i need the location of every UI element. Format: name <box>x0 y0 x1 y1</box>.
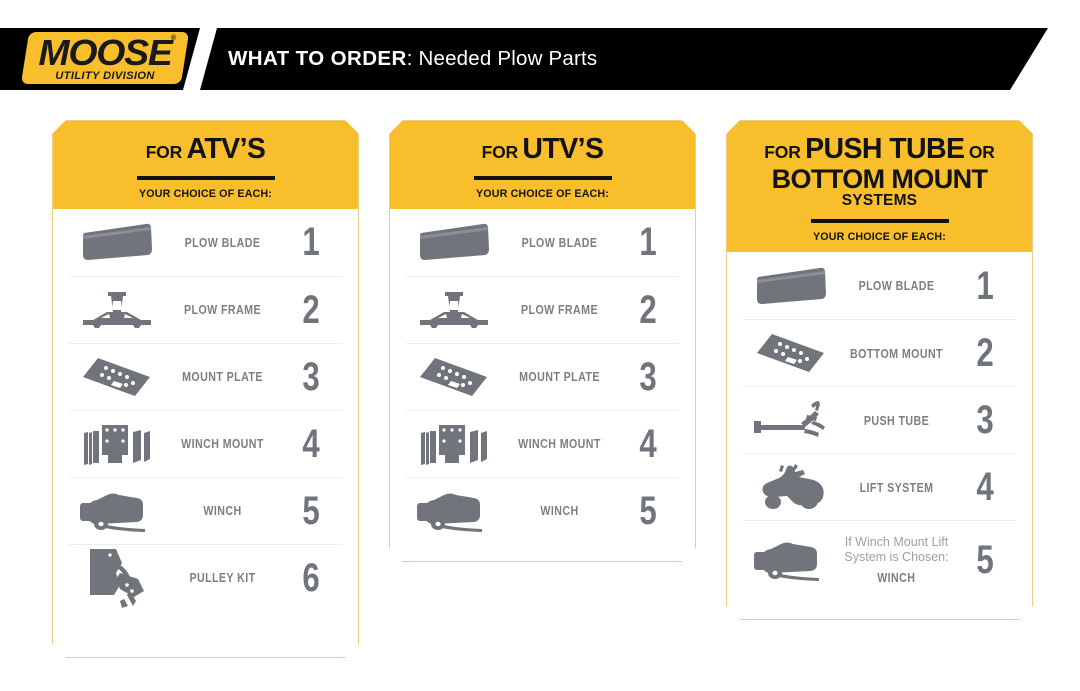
card-utv-title: FOR UTV’S <box>400 135 685 165</box>
bottom-mount-icon <box>743 331 839 375</box>
list-item-number: 5 <box>624 491 672 531</box>
list-item: PLOW BLADE 1 <box>406 209 679 276</box>
list-item-label: PUSH TUBE <box>849 413 943 428</box>
card-atv-title-main: ATV’S <box>186 133 265 165</box>
card-atv-subtitle: YOUR CHOICE OF EACH: <box>63 188 348 200</box>
card-push-tube-title-main: PUSH TUBE <box>805 133 964 165</box>
list-item: PUSH TUBE 3 <box>743 386 1016 453</box>
list-item-label: PLOW FRAME <box>175 302 269 317</box>
card-push-tube-title-bottom-mount: BOTTOM MOUNT <box>772 164 988 194</box>
list-item: PLOW BLADE 1 <box>69 209 342 276</box>
pulley-kit-icon <box>69 547 165 609</box>
card-push-tube-title-systems: SYSTEMS <box>842 192 917 209</box>
list-item-number: 3 <box>961 400 1009 440</box>
push-tube-icon <box>743 399 839 441</box>
page-title: WHAT TO ORDER: Needed Plow Parts <box>228 28 597 90</box>
list-item: WINCH MOUNT 4 <box>406 410 679 477</box>
list-item-number: 3 <box>287 357 335 397</box>
card-utv-subtitle: YOUR CHOICE OF EACH: <box>400 188 685 200</box>
page-title-strong: WHAT TO ORDER <box>228 47 407 71</box>
list-item-label: MOUNT PLATE <box>175 369 269 384</box>
plow-frame-icon <box>69 288 165 332</box>
list-item: PLOW FRAME 2 <box>69 276 342 343</box>
list-item-number: 6 <box>287 558 335 598</box>
card-push-tube-header: FOR PUSH TUBE OR BOTTOM MOUNT SYSTEMS YO… <box>727 121 1032 252</box>
moose-logo: MOOSE UTILITY DIVISION ® <box>22 29 188 87</box>
card-atv-divider <box>137 176 275 180</box>
winch-icon <box>406 489 502 533</box>
list-item-number: 3 <box>624 357 672 397</box>
list-item-number: 2 <box>287 290 335 330</box>
list-item-label: WINCH <box>877 570 915 585</box>
card-atv-title: FOR ATV’S <box>63 135 348 165</box>
winch-icon <box>69 489 165 533</box>
list-item: If Winch Mount Lift System is Chosen: WI… <box>743 520 1016 598</box>
list-item-number: 5 <box>287 491 335 531</box>
list-item-label: PLOW BLADE <box>512 235 606 250</box>
card-push-tube-title-for: FOR <box>764 142 800 162</box>
registered-trademark-icon: ® <box>171 35 176 42</box>
list-item-label: WINCH <box>512 503 606 518</box>
card-push-tube-title-or: OR <box>969 142 995 162</box>
list-item-number: 1 <box>287 222 335 262</box>
card-atv-title-for: FOR <box>146 142 182 162</box>
card-atv-header: FOR ATV’S YOUR CHOICE OF EACH: <box>53 121 358 209</box>
cards-container: FOR ATV’S YOUR CHOICE OF EACH: PLOW BLAD… <box>0 0 1080 691</box>
list-item: BOTTOM MOUNT 2 <box>743 319 1016 386</box>
list-item-label-group: If Winch Mount Lift System is Chosen: WI… <box>839 535 954 585</box>
list-item-label: PLOW FRAME <box>512 302 606 317</box>
card-utv-title-main: UTV’S <box>522 133 603 165</box>
list-item: PLOW FRAME 2 <box>406 276 679 343</box>
list-item-number: 2 <box>624 290 672 330</box>
list-item-number: 4 <box>961 467 1009 507</box>
list-item: PLOW BLADE 1 <box>743 252 1016 319</box>
list-item-label: PLOW BLADE <box>849 278 943 293</box>
card-push-tube-divider <box>811 219 949 223</box>
list-item-label: WINCH <box>175 503 269 518</box>
list-item-number: 1 <box>961 266 1009 306</box>
plow-frame-icon <box>406 288 502 332</box>
card-utv-rows: PLOW BLADE 1 PLOW FRAME 2 MOUNT PLATE 3 <box>390 209 695 544</box>
list-item-label: WINCH MOUNT <box>175 436 269 451</box>
winch-icon <box>743 538 839 582</box>
card-atv-rows: PLOW BLADE 1 PLOW FRAME 2 MOUNT PLATE 3 <box>53 209 358 611</box>
page-title-light: : Needed Plow Parts <box>407 47 598 71</box>
list-item-note: If Winch Mount Lift System is Chosen: <box>839 535 954 566</box>
lift-system-icon <box>743 463 839 511</box>
logo-wordmark: MOOSE <box>19 32 192 74</box>
card-utv-divider <box>474 176 612 180</box>
list-item: WINCH 5 <box>406 477 679 544</box>
winch-mount-icon <box>406 421 502 467</box>
mount-plate-icon <box>69 355 165 399</box>
list-item-label: PULLEY KIT <box>175 570 269 585</box>
card-utv-header: FOR UTV’S YOUR CHOICE OF EACH: <box>390 121 695 209</box>
list-item: LIFT SYSTEM 4 <box>743 453 1016 520</box>
card-utv-title-for: FOR <box>482 142 518 162</box>
winch-mount-icon <box>69 421 165 467</box>
list-item-label: BOTTOM MOUNT <box>849 346 943 361</box>
mount-plate-icon <box>406 355 502 399</box>
list-item-label: LIFT SYSTEM <box>849 480 943 495</box>
list-item-number: 2 <box>961 333 1009 373</box>
infographic-root: WHAT TO ORDER: Needed Plow Parts MOOSE U… <box>0 0 1080 691</box>
card-push-tube-title: FOR PUSH TUBE OR BOTTOM MOUNT SYSTEMS <box>737 135 1022 209</box>
card-push-tube-rows: PLOW BLADE 1 BOTTOM MOUNT 2 PUSH TUBE 3 <box>727 252 1032 598</box>
list-item-label: WINCH MOUNT <box>512 436 606 451</box>
card-push-tube: FOR PUSH TUBE OR BOTTOM MOUNT SYSTEMS YO… <box>726 120 1033 620</box>
card-push-tube-subtitle: YOUR CHOICE OF EACH: <box>737 231 1022 243</box>
card-push-tube-title-line3: SYSTEMS <box>737 193 1022 210</box>
list-item-number: 5 <box>961 540 1009 580</box>
card-push-tube-title-line1: FOR PUSH TUBE OR <box>737 135 1022 165</box>
list-item: WINCH 5 <box>69 477 342 544</box>
list-item: PULLEY KIT 6 <box>69 544 342 611</box>
list-item-number: 4 <box>624 424 672 464</box>
list-item-label: PLOW BLADE <box>175 235 269 250</box>
list-item-label: MOUNT PLATE <box>512 369 606 384</box>
plow-blade-icon <box>406 222 502 262</box>
list-item: MOUNT PLATE 3 <box>406 343 679 410</box>
plow-blade-icon <box>743 266 839 306</box>
list-item-number: 1 <box>624 222 672 262</box>
logo-tagline: UTILITY DIVISION <box>20 70 189 82</box>
list-item: MOUNT PLATE 3 <box>69 343 342 410</box>
card-push-tube-title-line2: BOTTOM MOUNT <box>737 165 1022 193</box>
card-atv: FOR ATV’S YOUR CHOICE OF EACH: PLOW BLAD… <box>52 120 359 658</box>
list-item-number: 4 <box>287 424 335 464</box>
list-item: WINCH MOUNT 4 <box>69 410 342 477</box>
plow-blade-icon <box>69 222 165 262</box>
card-utv: FOR UTV’S YOUR CHOICE OF EACH: PLOW BLAD… <box>389 120 696 562</box>
